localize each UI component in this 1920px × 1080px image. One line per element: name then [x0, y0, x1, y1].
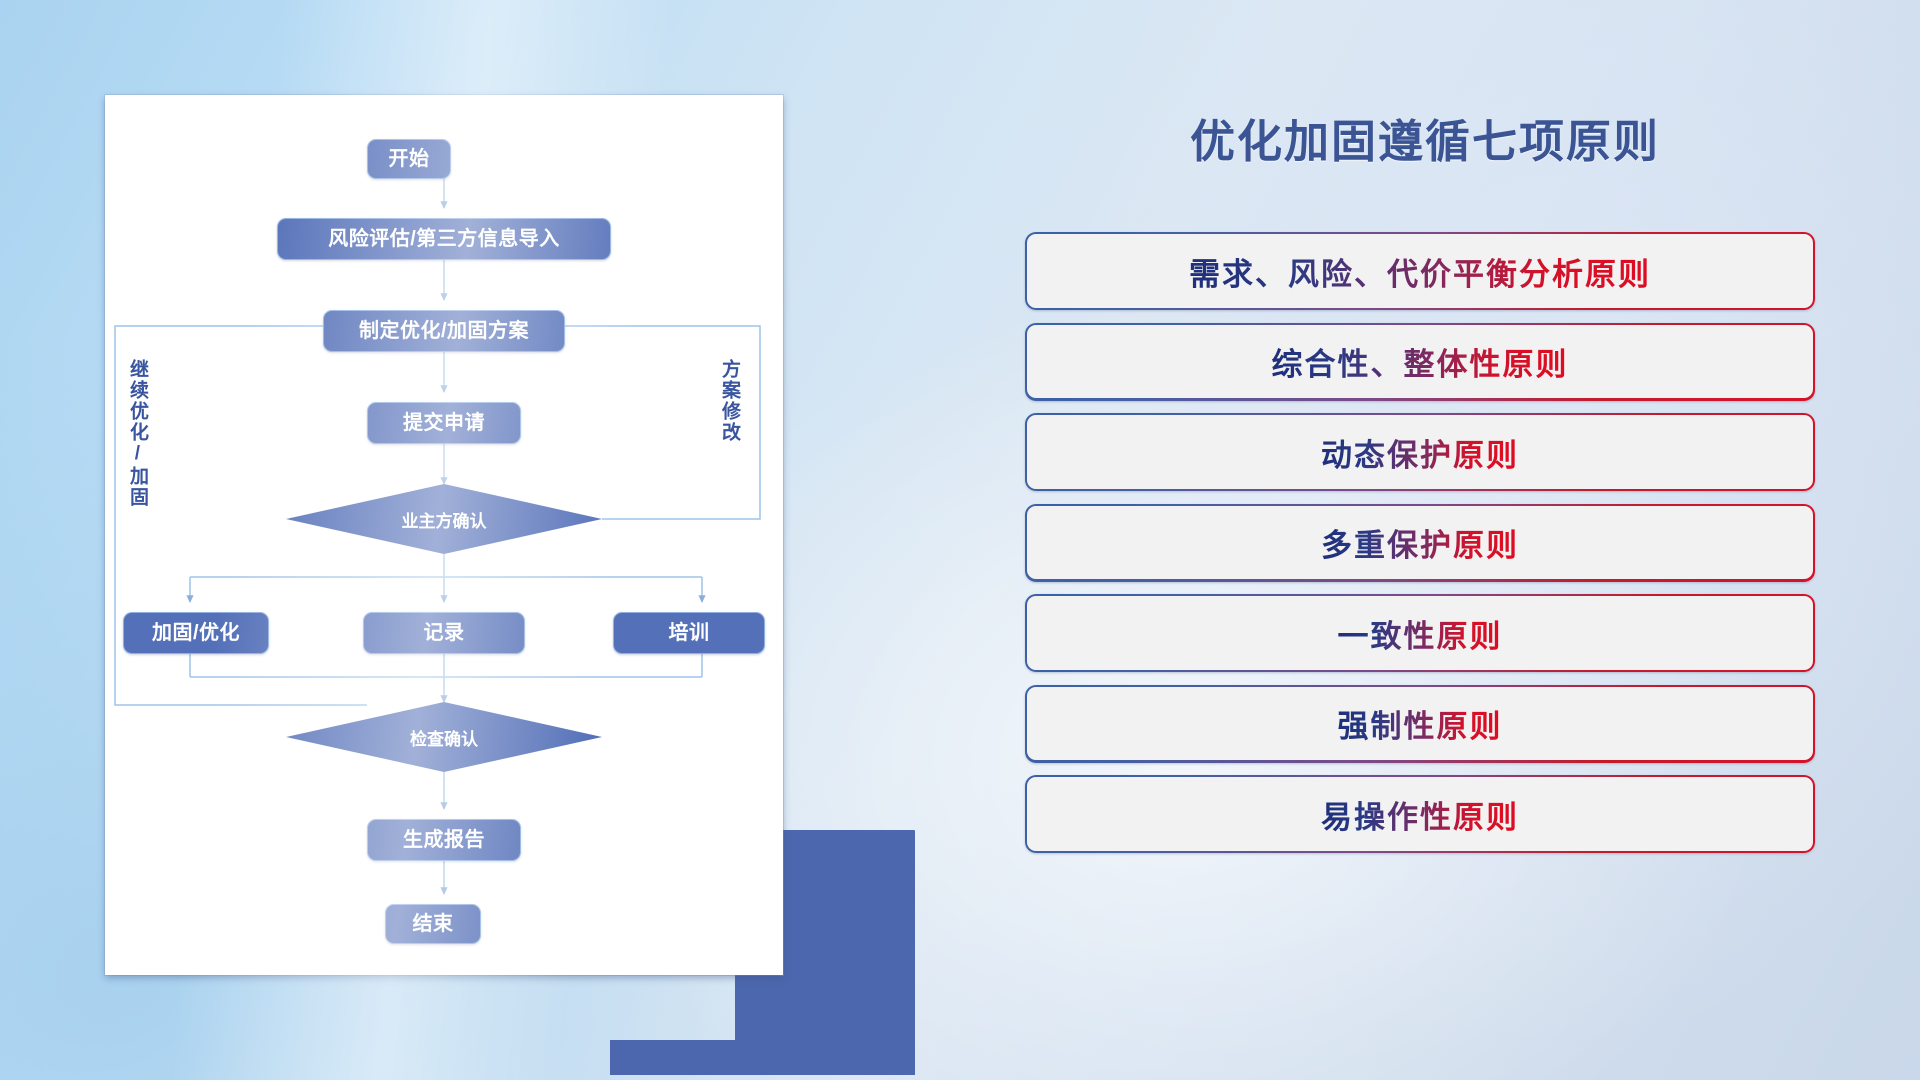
principle-item-1-label: 需求、风险、代价平衡分析原则 [1189, 249, 1651, 294]
flow-node-risk-assessment[interactable]: 风险评估/第三方信息导入 [277, 218, 611, 260]
principle-item-6[interactable]: 强制性原则 [1025, 685, 1815, 763]
principle-item-2[interactable]: 综合性、整体性原则 [1025, 323, 1815, 401]
principle-item-1-inner: 需求、风险、代价平衡分析原则 [1027, 234, 1812, 307]
principle-item-3-label: 动态保护原则 [1321, 430, 1519, 475]
principle-item-4-label: 多重保护原则 [1321, 520, 1519, 565]
flowchart-card-wrapper: 开始 风险评估/第三方信息导入 制定优化/加固方案 提交申请 业主方确认 加固/… [105, 95, 783, 975]
principles-panel: 优化加固遵循七项原则 需求、风险、代价平衡分析原则 综合性、整体性原则 动态保护… [1025, 110, 1815, 990]
principle-item-4-inner: 多重保护原则 [1027, 506, 1812, 579]
principle-item-2-inner: 综合性、整体性原则 [1027, 325, 1812, 398]
principle-item-7-inner: 易操作性原则 [1027, 777, 1812, 850]
flowchart-white-card: 开始 风险评估/第三方信息导入 制定优化/加固方案 提交申请 业主方确认 加固/… [105, 95, 783, 975]
flow-node-submit-application[interactable]: 提交申请 [367, 402, 521, 444]
principle-item-2-label: 综合性、整体性原则 [1272, 339, 1569, 384]
principles-title: 优化加固遵循七项原则 [1155, 110, 1695, 174]
principle-item-6-inner: 强制性原则 [1027, 687, 1812, 760]
flow-node-end[interactable]: 结束 [385, 904, 481, 944]
edge-label-plan-revision: 方案修改 [719, 359, 739, 443]
principle-item-1[interactable]: 需求、风险、代价平衡分析原则 [1025, 232, 1815, 310]
flow-node-generate-report[interactable]: 生成报告 [367, 819, 521, 861]
principle-item-3[interactable]: 动态保护原则 [1025, 413, 1815, 491]
principles-list: 需求、风险、代价平衡分析原则 综合性、整体性原则 动态保护原则 多重保护原则 [1025, 232, 1815, 866]
navy-accent-block-bottom [610, 1040, 915, 1075]
principle-item-5-label: 一致性原则 [1338, 611, 1503, 656]
flow-node-record[interactable]: 记录 [363, 612, 525, 654]
flow-node-start[interactable]: 开始 [367, 139, 451, 179]
principle-item-3-inner: 动态保护原则 [1027, 415, 1812, 488]
slide-canvas: 开始 风险评估/第三方信息导入 制定优化/加固方案 提交申请 业主方确认 加固/… [0, 0, 1920, 1080]
principle-item-5[interactable]: 一致性原则 [1025, 594, 1815, 672]
principle-item-5-inner: 一致性原则 [1027, 596, 1812, 669]
decision-check-confirm-shape [286, 702, 602, 772]
edge-label-continue-optimize: 继续优化/加固 [127, 359, 147, 508]
flow-node-make-plan[interactable]: 制定优化/加固方案 [323, 310, 565, 352]
flow-node-reinforce-optimize[interactable]: 加固/优化 [123, 612, 269, 654]
principle-item-7-label: 易操作性原则 [1321, 792, 1519, 837]
principle-item-6-label: 强制性原则 [1338, 701, 1503, 746]
principle-item-7[interactable]: 易操作性原则 [1025, 775, 1815, 853]
decision-owner-confirm-shape [286, 484, 602, 554]
principle-item-4[interactable]: 多重保护原则 [1025, 504, 1815, 582]
flow-node-training[interactable]: 培训 [613, 612, 765, 654]
